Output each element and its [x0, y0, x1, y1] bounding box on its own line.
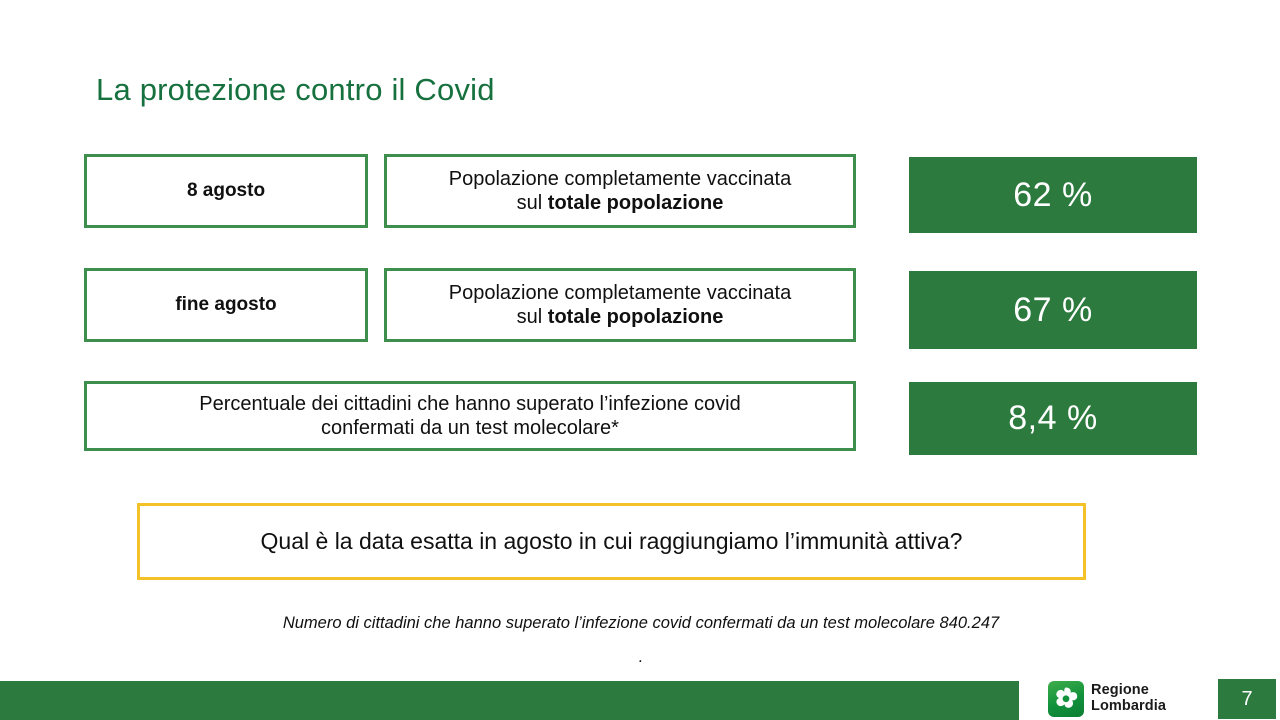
page-title: La protezione contro il Covid	[96, 72, 495, 108]
row-3-description-line2: confermati da un test molecolare*	[321, 417, 619, 439]
question-callout-box: Qual è la data esatta in agosto in cui r…	[137, 503, 1086, 580]
row-2-description-emphasis: totale popolazione	[548, 306, 724, 328]
slide-canvas: La protezione contro il Covid 8 agosto P…	[0, 0, 1280, 720]
row-3-value-text: 8,4 %	[1008, 399, 1097, 438]
logo-wordmark: Regione Lombardia	[1091, 683, 1166, 714]
row-3-description-box: Percentuale dei cittadini che hanno supe…	[84, 381, 856, 451]
row-3-description-line1: Percentuale dei cittadini che hanno supe…	[199, 393, 740, 415]
page-number-box: 7	[1218, 679, 1276, 719]
row-1-description-prefix: sul	[517, 192, 548, 214]
row-2-label-text: fine agosto	[175, 293, 276, 316]
row-2-label-box: fine agosto	[84, 268, 368, 342]
row-1-label-text: 8 agosto	[187, 179, 265, 202]
row-2-description-box: Popolazione completamente vaccinata sul …	[384, 268, 856, 342]
row-3-value-box: 8,4 %	[909, 382, 1197, 455]
row-1-value-text: 62 %	[1013, 176, 1093, 215]
row-1-description-box: Popolazione completamente vaccinata sul …	[384, 154, 856, 228]
logo-line-2: Lombardia	[1091, 698, 1166, 714]
page-number-text: 7	[1241, 688, 1252, 711]
row-1-description-line1: Popolazione completamente vaccinata	[449, 168, 791, 190]
row-1-label-box: 8 agosto	[84, 154, 368, 228]
row-2-description-line1: Popolazione completamente vaccinata	[449, 282, 791, 304]
row-1-value-box: 62 %	[909, 157, 1197, 233]
row-1-description-emphasis: totale popolazione	[548, 192, 724, 214]
regione-lombardia-logo: Regione Lombardia	[1048, 679, 1166, 719]
logo-line-1: Regione	[1091, 682, 1149, 698]
footnote-trailing-period: .	[96, 648, 1186, 667]
question-text: Qual è la data esatta in agosto in cui r…	[261, 528, 963, 555]
row-2-value-text: 67 %	[1013, 291, 1093, 330]
footer-bar	[0, 681, 1019, 720]
rosa-camuna-icon	[1048, 681, 1084, 717]
row-2-value-box: 67 %	[909, 271, 1197, 349]
row-2-description-prefix: sul	[517, 306, 548, 328]
footnote-text: Numero di cittadini che hanno superato l…	[96, 615, 1186, 632]
